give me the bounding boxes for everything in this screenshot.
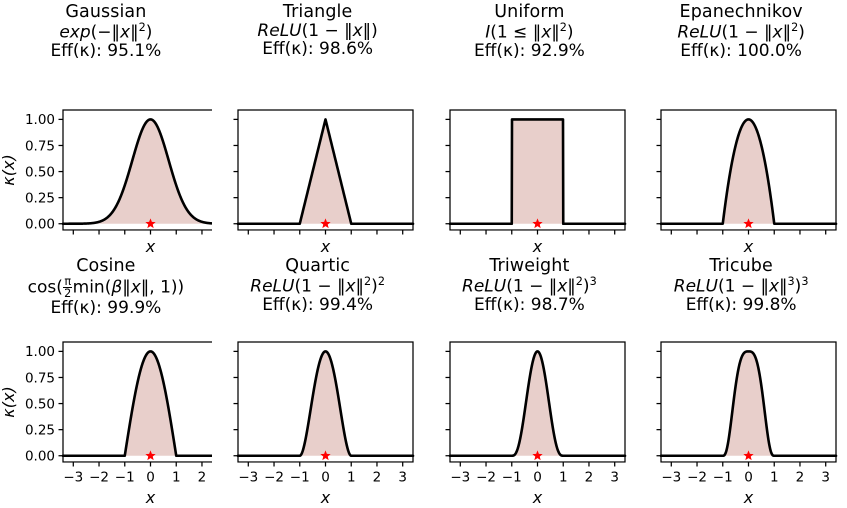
kernel-fill <box>450 351 625 455</box>
x-tick-label: −1 <box>501 470 521 486</box>
panel-triweight: TriweightReLU(1 − ‖x‖2)3Eff(κ): 98.7%−3−… <box>424 254 636 508</box>
x-tick-label: −3 <box>662 470 682 486</box>
kernel-formula: ReLU(1 − ‖x‖2)2 <box>212 276 424 296</box>
x-tick-label: 2 <box>584 470 593 486</box>
x-axis-label: x <box>320 237 331 254</box>
y-tick-label: 0.75 <box>25 370 55 386</box>
x-tick-label: 3 <box>610 470 619 486</box>
y-tick-label: 0.50 <box>25 164 55 180</box>
panel-title-block: TricubeReLU(1 − ‖x‖3)3Eff(κ): 99.8% <box>635 254 847 314</box>
x-tick-label: 3 <box>822 470 831 486</box>
panel-title-block: TriweightReLU(1 − ‖x‖2)3Eff(κ): 98.7% <box>424 254 636 314</box>
panel-tricube: TricubeReLU(1 − ‖x‖3)3Eff(κ): 99.8%−3−2−… <box>635 254 847 508</box>
x-axis-label: x <box>145 237 156 254</box>
y-tick-label: 0.25 <box>25 422 55 438</box>
x-tick-label: 2 <box>372 470 381 486</box>
axis-mask <box>212 231 424 254</box>
panel-title-block: UniformI(1 ≤ ‖x‖2)Eff(κ): 92.9% <box>424 0 636 60</box>
plot-area: −3−2−10123x <box>212 332 424 508</box>
x-tick-label: 2 <box>198 470 207 486</box>
panel-epanechnikov: EpanechnikovReLU(1 − ‖x‖2)Eff(κ): 100.0%… <box>635 0 847 254</box>
kernel-formula: ReLU(1 − ‖x‖) <box>212 22 424 40</box>
x-tick-label: −1 <box>713 470 733 486</box>
y-tick-label: 0.25 <box>25 190 55 206</box>
y-axis-label: κ(x) <box>0 154 18 185</box>
kernel-fill <box>661 119 836 223</box>
kernel-efficiency: Eff(κ): 99.4% <box>212 296 424 314</box>
y-tick-label: 1.00 <box>25 112 55 128</box>
panel-gaussian: Gaussianexp(−‖x‖2)Eff(κ): 95.1%0.000.250… <box>0 0 212 254</box>
kernel-formula: ReLU(1 − ‖x‖2)3 <box>424 276 636 296</box>
kernel-efficiency: Eff(κ): 98.6% <box>212 40 424 58</box>
kernel-fill <box>661 351 836 455</box>
panel-title-block: Cosinecos(π2min(β‖x‖, 1))Eff(κ): 99.9% <box>0 254 212 318</box>
x-tick-label: 1 <box>172 470 181 486</box>
panel-triangle: TriangleReLU(1 − ‖x‖)Eff(κ): 98.6%x <box>212 0 424 254</box>
x-tick-label: 1 <box>770 470 779 486</box>
x-axis-label: x <box>145 488 156 507</box>
x-axis-label: x <box>743 488 754 507</box>
kernel-formula: cos(π2min(β‖x‖, 1)) <box>0 276 212 299</box>
panel-title-block: EpanechnikovReLU(1 − ‖x‖2)Eff(κ): 100.0% <box>635 0 847 60</box>
kernel-efficiency: Eff(κ): 99.9% <box>0 299 212 317</box>
x-tick-label: −1 <box>290 470 310 486</box>
x-axis-label: x <box>531 237 542 254</box>
y-tick-label: 0.00 <box>25 217 55 233</box>
x-tick-label: 2 <box>796 470 805 486</box>
kernel-name: Triweight <box>424 257 636 276</box>
kernel-efficiency: Eff(κ): 100.0% <box>635 42 847 60</box>
x-tick-label: 0 <box>533 470 542 486</box>
kernel-efficiency: Eff(κ): 95.1% <box>0 42 212 60</box>
panel-quartic: QuarticReLU(1 − ‖x‖2)2Eff(κ): 99.4%−3−2−… <box>212 254 424 508</box>
plot-area: x <box>424 100 636 254</box>
kernel-name: Tricube <box>635 257 847 276</box>
kernel-fill <box>63 119 212 223</box>
plot-area: x <box>212 100 424 254</box>
x-tick-label: 1 <box>558 470 567 486</box>
x-tick-label: −2 <box>476 470 496 486</box>
kernel-fill <box>238 351 413 455</box>
y-tick-label: 0.75 <box>25 138 55 154</box>
kernel-formula: I(1 ≤ ‖x‖2) <box>424 22 636 42</box>
x-tick-label: 1 <box>347 470 356 486</box>
kernel-efficiency: Eff(κ): 99.8% <box>635 296 847 314</box>
x-axis-label: x <box>531 488 542 507</box>
kernel-name: Cosine <box>0 257 212 276</box>
y-tick-label: 0.50 <box>25 396 55 412</box>
panel-cosine: Cosinecos(π2min(β‖x‖, 1))Eff(κ): 99.9%−3… <box>0 254 212 508</box>
kernel-plot-grid: Gaussianexp(−‖x‖2)Eff(κ): 95.1%0.000.250… <box>0 0 847 508</box>
x-tick-label: 3 <box>398 470 407 486</box>
x-tick-label: −2 <box>89 470 109 486</box>
axis-mask <box>635 231 847 254</box>
plot-area: −3−2−101230.000.250.500.751.00xκ(x) <box>0 332 212 508</box>
y-axis-label: κ(x) <box>0 386 18 417</box>
plot-area: x <box>635 100 847 254</box>
x-axis-label: x <box>743 237 754 254</box>
panel-title-block: Gaussianexp(−‖x‖2)Eff(κ): 95.1% <box>0 0 212 60</box>
kernel-fill <box>63 351 212 455</box>
x-tick-label: 0 <box>321 470 330 486</box>
x-tick-label: −2 <box>687 470 707 486</box>
plot-area: −3−2−10123x <box>424 332 636 508</box>
kernel-formula: exp(−‖x‖2) <box>0 22 212 42</box>
x-tick-label: −3 <box>450 470 470 486</box>
x-tick-label: −3 <box>238 470 258 486</box>
plot-area: 0.000.250.500.751.00xκ(x) <box>0 100 212 254</box>
kernel-name: Uniform <box>424 3 636 22</box>
panel-title-block: QuarticReLU(1 − ‖x‖2)2Eff(κ): 99.4% <box>212 254 424 314</box>
kernel-fill <box>238 119 413 223</box>
kernel-efficiency: Eff(κ): 98.7% <box>424 296 636 314</box>
kernel-name: Epanechnikov <box>635 3 847 22</box>
x-tick-label: −2 <box>264 470 284 486</box>
axis-mask <box>424 231 636 254</box>
x-tick-label: −1 <box>115 470 135 486</box>
kernel-name: Gaussian <box>0 3 212 22</box>
kernel-efficiency: Eff(κ): 92.9% <box>424 42 636 60</box>
kernel-formula: ReLU(1 − ‖x‖3)3 <box>635 276 847 296</box>
y-tick-label: 1.00 <box>25 344 55 360</box>
x-tick-label: 0 <box>146 470 155 486</box>
kernel-formula: ReLU(1 − ‖x‖2) <box>635 22 847 42</box>
x-axis-label: x <box>320 488 331 507</box>
kernel-name: Quartic <box>212 257 424 276</box>
kernel-fill <box>450 119 625 223</box>
x-tick-label: 0 <box>744 470 753 486</box>
panel-title-block: TriangleReLU(1 − ‖x‖)Eff(κ): 98.6% <box>212 0 424 59</box>
x-tick-label: −3 <box>63 470 83 486</box>
axis-mask <box>0 231 212 254</box>
plot-area: −3−2−10123x <box>635 332 847 508</box>
kernel-name: Triangle <box>212 3 424 22</box>
y-tick-label: 0.00 <box>25 449 55 465</box>
panel-uniform: UniformI(1 ≤ ‖x‖2)Eff(κ): 92.9%x <box>424 0 636 254</box>
